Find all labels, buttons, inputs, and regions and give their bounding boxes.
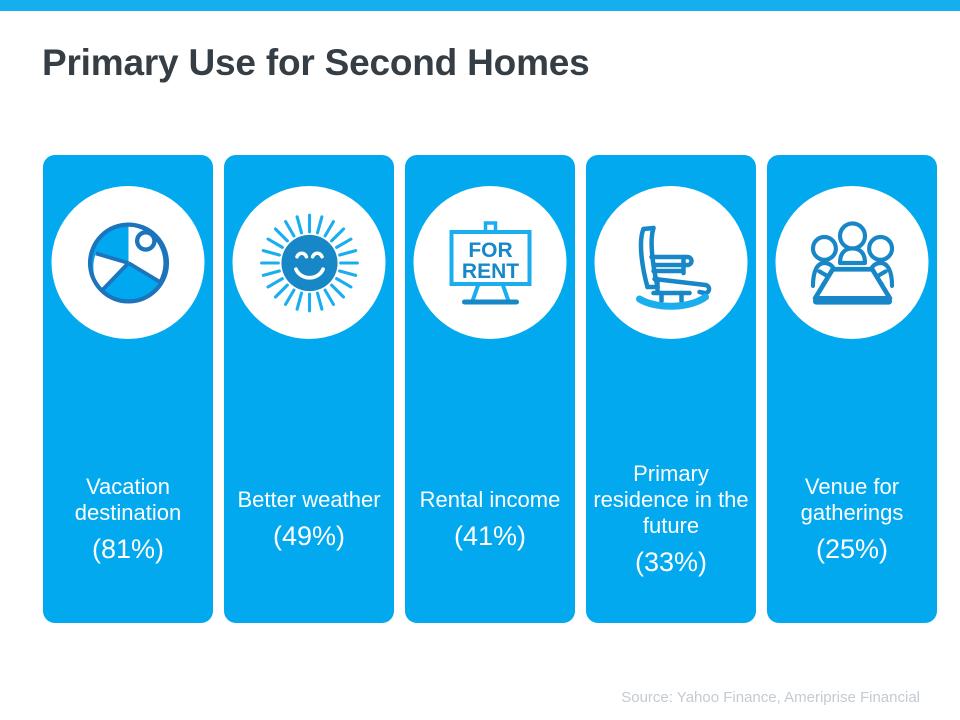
stat-card-vacation-destination[interactable]: Vacation destination (81%) [43, 155, 213, 623]
icon-disc: FOR RENT [414, 186, 567, 339]
rocking-chair-icon [621, 213, 721, 313]
card-value: (33%) [635, 546, 707, 579]
icon-disc [233, 186, 386, 339]
card-value: (41%) [454, 520, 526, 553]
card-text-block: Vacation destination (81%) [47, 450, 209, 590]
card-value: (25%) [816, 533, 888, 566]
card-label: Better weather [237, 487, 380, 513]
card-label: Venue for gatherings [771, 474, 933, 526]
card-text-block: Primary residence in the future (33%) [590, 450, 752, 590]
card-label: Primary residence in the future [590, 461, 752, 539]
stat-card-better-weather[interactable]: Better weather (49%) [224, 155, 394, 623]
source-attribution: Source: Yahoo Finance, Ameriprise Financ… [621, 689, 920, 706]
card-value: (49%) [273, 520, 345, 553]
people-at-table-icon [800, 211, 904, 315]
card-text-block: Venue for gatherings (25%) [771, 450, 933, 590]
page-title: Primary Use for Second Homes [42, 42, 590, 84]
stat-card-venue-gatherings[interactable]: Venue for gatherings (25%) [767, 155, 937, 623]
card-value: (81%) [92, 533, 164, 566]
smiling-sun-icon [257, 211, 361, 315]
icon-disc [595, 186, 748, 339]
card-text-block: Rental income (41%) [409, 450, 571, 590]
stat-card-primary-residence[interactable]: Primary residence in the future (33%) [586, 155, 756, 623]
card-text-block: Better weather (49%) [228, 450, 390, 590]
sign-line-2: RENT [461, 260, 518, 283]
for-rent-sign-icon: FOR RENT [440, 213, 540, 313]
sign-line-1: FOR [468, 239, 512, 262]
beach-ball-icon [80, 215, 176, 311]
card-label: Rental income [420, 487, 561, 513]
stat-card-rental-income[interactable]: FOR RENT Rental income (41%) [405, 155, 575, 623]
card-label: Vacation destination [47, 474, 209, 526]
icon-disc [52, 186, 205, 339]
stat-card-row: Vacation destination (81%) [43, 155, 917, 623]
top-accent-bar [0, 0, 960, 11]
icon-disc [776, 186, 929, 339]
